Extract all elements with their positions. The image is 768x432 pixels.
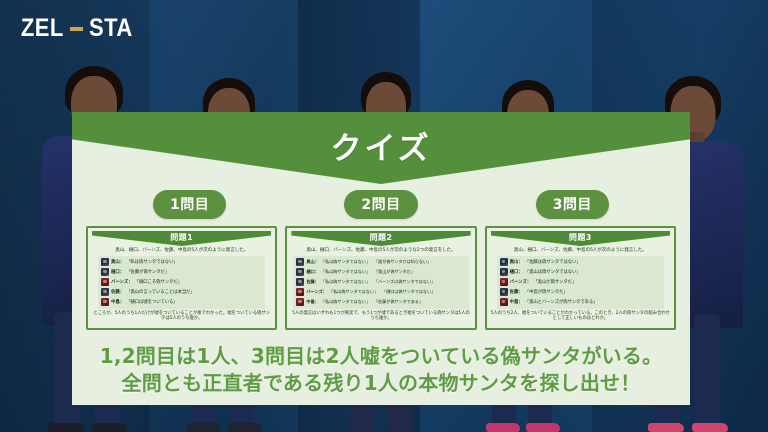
question-badge-2[interactable]: 2問目 — [344, 190, 417, 219]
speaker-quote-2: 「奥山が偽サンタだ」 — [374, 269, 415, 275]
statement-list-3: 奥山： 「佐藤は偽サンタではない」 樋口： 「奥山は偽サンタではない」 バーンズ… — [497, 256, 664, 309]
card-header-3: 問題3 — [491, 231, 670, 246]
avatar-burns-icon — [500, 278, 508, 286]
avatar-okuyama-icon — [296, 258, 304, 266]
avatar-okuyama-icon — [500, 258, 508, 266]
speaker-name: 樋口： — [510, 269, 523, 275]
card-footer-1: ところが、5人のうち1人だけが嘘をついていることが後でわかった。嘘をついている偽… — [92, 311, 271, 322]
speaker-quote-1: 「私は偽サンタではない」 — [321, 279, 370, 285]
footer-line-1: 1,2問目は1人、3問目は2人嘘をついている偽サンタがいる。 — [72, 343, 690, 370]
question-badge-3[interactable]: 3問目 — [536, 190, 609, 219]
speaker-quote: 「奥山とバーンズが偽サンタである」 — [525, 299, 598, 305]
speaker-quote: 「私は偽サンタではない」 — [126, 259, 178, 265]
question-card-3[interactable]: 問題3 奥山、樋口、バーンズ、佐藤、中島の5人が次のように発言した。 奥山： 「… — [485, 226, 676, 330]
avatar-sato-icon — [296, 278, 304, 286]
speaker-name: 中島： — [510, 299, 523, 305]
question-cards-row: 問題1 奥山、樋口、バーンズ、佐藤、中島の5人が次のように発言した。 奥山： 「… — [72, 226, 690, 330]
speaker-name: バーンズ： — [510, 279, 532, 285]
statement-row: 佐藤： 「私は偽サンタではない」 「バーンズは偽サンタではない」 — [296, 278, 465, 287]
brand-logo: ZEL STA — [18, 14, 135, 43]
speaker-quote: 「奥山は偽サンタではない」 — [525, 269, 581, 275]
player-shoe-left — [48, 423, 84, 432]
statement-row: 奥山： 「私は偽サンタではない」 「誰が偽サンタかは知らない」 — [296, 258, 465, 267]
card-title-2: 問題2 — [291, 232, 470, 243]
player-shoe-right — [92, 423, 128, 432]
card-header-1: 問題1 — [92, 231, 271, 246]
statement-row: 佐藤： 「中島が偽サンタだ」 — [500, 288, 661, 297]
statement-list-1: 奥山： 「私は偽サンタではない」 樋口： 「佐藤が偽サンタだ」 バーンズ： 「樋… — [98, 256, 265, 309]
statement-row: 樋口： 「佐藤が偽サンタだ」 — [101, 268, 262, 277]
card-title-3: 問題3 — [491, 232, 670, 243]
speaker-name: 中島： — [306, 299, 319, 305]
card-footer-2: 5人の発言はいずれも1つが真実で、もう1つが嘘であるとき嘘をついている偽サンタは… — [291, 311, 470, 322]
card-intro-2: 奥山、樋口、バーンズ、佐藤、中島の5人が次のような2つの発言をした。 — [291, 248, 470, 254]
speaker-name: バーンズ： — [306, 289, 327, 295]
avatar-nakajima-icon — [101, 298, 109, 306]
speaker-quote: 「中島が偽サンタだ」 — [525, 289, 568, 295]
speaker-quote: 「樋口は嘘をついている」 — [126, 299, 177, 305]
speaker-quote: 「奥山の言っていることは本当だ」 — [126, 289, 194, 295]
speaker-name: 奥山： — [306, 259, 319, 265]
avatar-nakajima-icon — [500, 298, 508, 306]
statement-row: 奥山： 「私は偽サンタではない」 — [101, 258, 262, 267]
player-shoe-left — [648, 423, 684, 432]
statement-row: 中島： 「奥山とバーンズが偽サンタである」 — [500, 298, 661, 307]
speaker-quote: 「佐藤が偽サンタだ」 — [126, 269, 169, 275]
avatar-nakajima-icon — [296, 298, 304, 306]
quiz-panel: クイズ 1問目 2問目 3問目 問題1 奥山、樋口、バーンズ、佐藤、中島の5人が… — [72, 112, 690, 405]
question-card-1[interactable]: 問題1 奥山、樋口、バーンズ、佐藤、中島の5人が次のように発言した。 奥山： 「… — [86, 226, 277, 330]
speaker-quote-2: 「誰が偽サンタかは知らない」 — [374, 259, 431, 265]
avatar-burns-icon — [296, 288, 304, 296]
panel-footer-callout: 1,2問目は1人、3問目は2人嘘をついている偽サンタがいる。 全問とも正直者であ… — [72, 343, 690, 397]
brand-name-left: ZEL — [21, 14, 64, 43]
speaker-quote: 「樋口こそ偽サンタだ」 — [135, 279, 182, 285]
question-card-2[interactable]: 問題2 奥山、樋口、バーンズ、佐藤、中島の5人が次のような2つの発言をした。 奥… — [285, 226, 476, 330]
avatar-okuyama-icon — [101, 258, 109, 266]
avatar-higuchi-icon — [101, 268, 109, 276]
player-shoe-right — [228, 423, 262, 432]
speaker-quote: 「奥山が偽サンタだ」 — [533, 279, 576, 285]
dash-icon — [70, 27, 83, 31]
statement-row: バーンズ： 「樋口こそ偽サンタだ」 — [101, 278, 262, 287]
speaker-name: バーンズ： — [111, 279, 133, 285]
speaker-name: 中島： — [111, 299, 124, 305]
player-leg-right — [694, 314, 720, 432]
speaker-quote-1: 「私は偽サンタではない」 — [321, 269, 370, 275]
avatar-higuchi-icon — [296, 268, 304, 276]
speaker-name: 奥山： — [510, 259, 523, 265]
page-title: クイズ — [72, 123, 690, 168]
speaker-quote: 「佐藤は偽サンタではない」 — [525, 259, 581, 265]
player-shoe-right — [526, 423, 560, 432]
question-badge-row: 1問目 2問目 3問目 — [72, 190, 690, 219]
statement-row: 中島： 「樋口は嘘をついている」 — [101, 298, 262, 307]
statement-list-2: 奥山： 「私は偽サンタではない」 「誰が偽サンタかは知らない」 樋口： 「私は偽… — [293, 256, 468, 309]
statement-row: バーンズ： 「私は偽サンタではない」 「樋口は偽サンタではない」 — [296, 288, 465, 297]
statement-row: 佐藤： 「奥山の言っていることは本当だ」 — [101, 288, 262, 297]
speaker-name: 佐藤： — [306, 279, 319, 285]
card-title-1: 問題1 — [92, 232, 271, 243]
card-intro-3: 奥山、樋口、バーンズ、佐藤、中島の5人が次のように発言した。 — [491, 248, 670, 254]
brand-name-right: STA — [89, 14, 133, 43]
player-shoe-left — [186, 423, 220, 432]
statement-row: 樋口： 「私は偽サンタではない」 「奥山が偽サンタだ」 — [296, 268, 465, 277]
avatar-sato-icon — [101, 288, 109, 296]
speaker-quote-2: 「佐藤が偽サンタである」 — [374, 299, 423, 305]
card-intro-1: 奥山、樋口、バーンズ、佐藤、中島の5人が次のように発言した。 — [92, 248, 271, 254]
speaker-quote-2: 「バーンズは偽サンタではない」 — [374, 279, 435, 285]
statement-row: バーンズ： 「奥山が偽サンタだ」 — [500, 278, 661, 287]
card-footer-3: 5人のうち2人、嘘をついていることがわかっている。このとき、2人の偽サンタの組み… — [491, 311, 670, 322]
footer-line-2: 全問とも正直者である残り1人の本物サンタを探し出せ！ — [72, 370, 690, 397]
card-header-2: 問題2 — [291, 231, 470, 246]
speaker-name: 佐藤： — [111, 289, 124, 295]
speaker-quote-2: 「樋口は偽サンタではない」 — [382, 289, 435, 295]
avatar-burns-icon — [101, 278, 109, 286]
player-shoe-right — [692, 423, 728, 432]
statement-row: 樋口： 「奥山は偽サンタではない」 — [500, 268, 661, 277]
avatar-sato-icon — [500, 288, 508, 296]
speaker-quote-1: 「私は偽サンタではない」 — [321, 259, 370, 265]
speaker-quote-1: 「私は偽サンタではない」 — [329, 289, 378, 295]
question-badge-1[interactable]: 1問目 — [153, 190, 226, 219]
speaker-name: 奥山： — [111, 259, 124, 265]
speaker-name: 樋口： — [306, 269, 319, 275]
quiz-header-banner: クイズ — [72, 112, 690, 184]
speaker-name: 樋口： — [111, 269, 124, 275]
statement-row: 中島： 「私は偽サンタではない」 「佐藤が偽サンタである」 — [296, 298, 465, 307]
speaker-quote-1: 「私は偽サンタではない」 — [321, 299, 370, 305]
avatar-higuchi-icon — [500, 268, 508, 276]
speaker-name: 佐藤： — [510, 289, 523, 295]
player-shoe-left — [486, 423, 520, 432]
statement-row: 奥山： 「佐藤は偽サンタではない」 — [500, 258, 661, 267]
